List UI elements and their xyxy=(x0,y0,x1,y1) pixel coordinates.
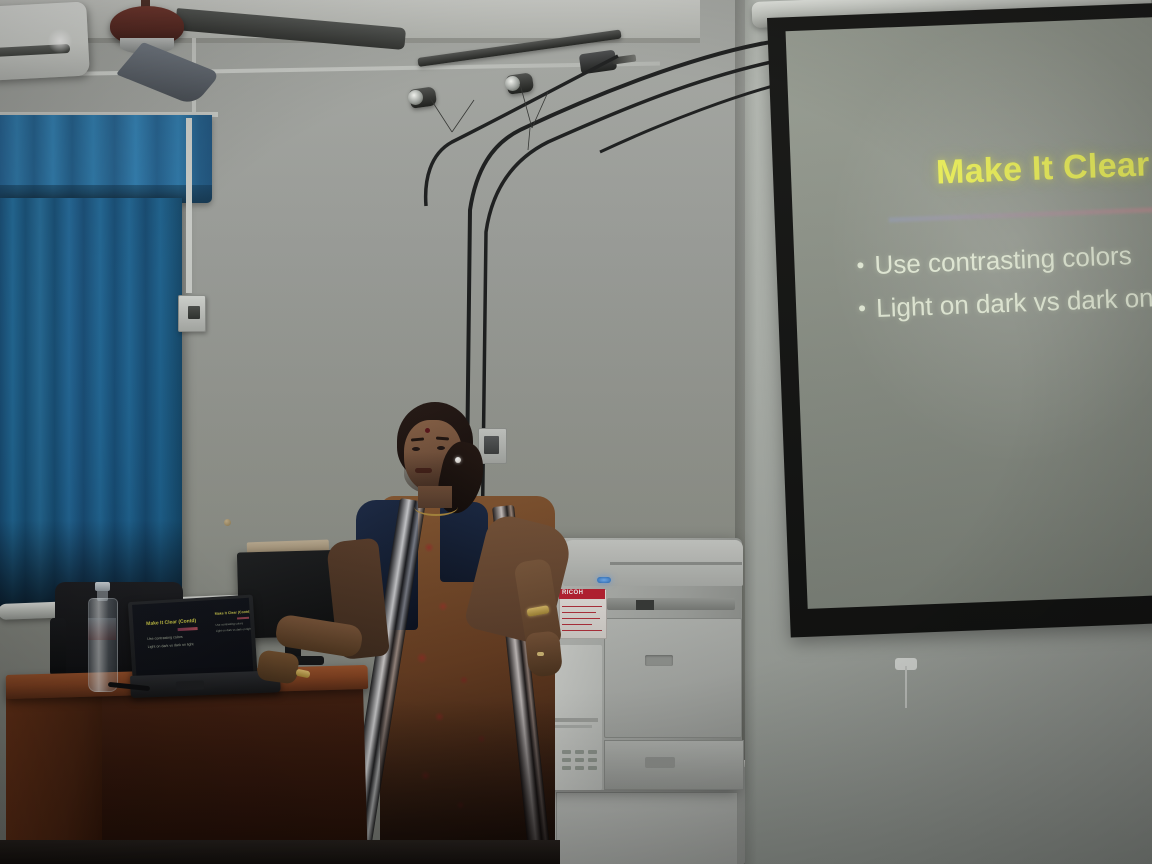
presenter-eye xyxy=(437,446,445,450)
presenter-eye xyxy=(412,447,420,451)
printer-door-handle[interactable] xyxy=(645,655,673,666)
printer-front-door[interactable] xyxy=(604,618,742,738)
finger-ring xyxy=(537,652,544,656)
slide-bullet: • Light on dark vs dark on xyxy=(858,281,1152,325)
printer-pedestal-door[interactable] xyxy=(556,792,738,864)
laptop-next-slide-title: Make It Clear (Contd) xyxy=(215,610,251,616)
printer-control-panel[interactable] xyxy=(607,598,735,610)
bullet-dot-icon: • xyxy=(856,250,875,281)
laptop-next-slide-line: Light on dark vs dark on light xyxy=(216,627,252,633)
printer-top-seam xyxy=(610,562,742,565)
presenter-right-hand xyxy=(525,630,563,677)
slide-title: Make It Clear ( xyxy=(935,145,1152,193)
printer-status-led xyxy=(597,577,611,583)
screen-pull-cord[interactable] xyxy=(905,666,907,708)
projection-screen-surface: Make It Clear ( • Use contrasting colors… xyxy=(786,17,1152,609)
printer-display xyxy=(636,600,654,610)
water-bottle-cap[interactable] xyxy=(95,582,110,591)
laptop-next-slide-line: Use contrasting colors xyxy=(215,621,243,627)
laptop-next-slide-divider xyxy=(237,617,249,620)
laptop-slide-title: Make It Clear (Contd) xyxy=(146,618,196,627)
laptop-slide-bullet: Light on dark vs dark on light xyxy=(148,642,194,649)
laptop-screen[interactable]: Make It Clear (Contd) Use contrasting co… xyxy=(132,598,253,682)
photo-scene: Make It Clear ( • Use contrasting colors… xyxy=(0,0,1152,864)
presenter-left-hand xyxy=(256,649,300,684)
bindi xyxy=(425,428,430,433)
printer-label-line xyxy=(562,624,592,625)
slide-bullet-list: • Use contrasting colors • Light on dark… xyxy=(856,238,1152,337)
office-chair-armrest[interactable] xyxy=(50,618,66,676)
printer-label-line xyxy=(562,618,600,619)
water-bottle-label xyxy=(88,618,116,640)
wall-socket-face[interactable] xyxy=(484,436,499,454)
laptop-slide-divider xyxy=(178,627,198,631)
slide-bullet-text: Light on dark vs dark on xyxy=(876,282,1152,324)
laptop-trackpad[interactable] xyxy=(176,680,204,690)
printer-brand-text: RICOH xyxy=(562,590,583,596)
necklace xyxy=(414,498,458,516)
printer-label-line xyxy=(562,606,602,607)
earring xyxy=(455,457,461,463)
floor xyxy=(0,840,560,864)
printer-label-line xyxy=(562,612,596,613)
laptop-slide-bullet: Use contrasting colors xyxy=(147,635,183,641)
podium-side-panel xyxy=(6,686,102,864)
printer-tray-handle[interactable] xyxy=(645,757,675,768)
projection-screen: Make It Clear ( • Use contrasting colors… xyxy=(767,3,1152,638)
printer-keypad-icon xyxy=(560,748,602,780)
printer-label-line xyxy=(562,630,602,631)
water-bottle[interactable] xyxy=(88,598,118,692)
bullet-dot-icon: • xyxy=(858,293,877,324)
